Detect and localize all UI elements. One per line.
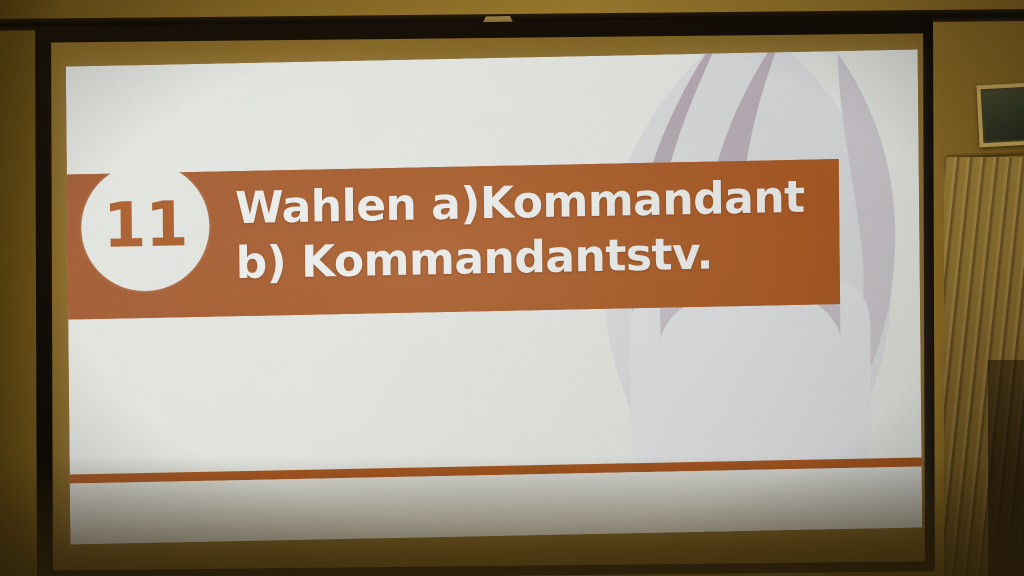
- slide-headline: Wahlen a)Kommandant b) Kommandantstv.: [235, 168, 876, 292]
- slide-number-badge-label: 11: [103, 193, 188, 257]
- photo-scene: 11 Wahlen a)Kommandant b) Kommandantstv.: [0, 0, 1024, 576]
- framed-picture-canvas: [983, 89, 1024, 141]
- framed-picture: [976, 83, 1024, 148]
- wall-shadow-bottom: [0, 456, 1024, 576]
